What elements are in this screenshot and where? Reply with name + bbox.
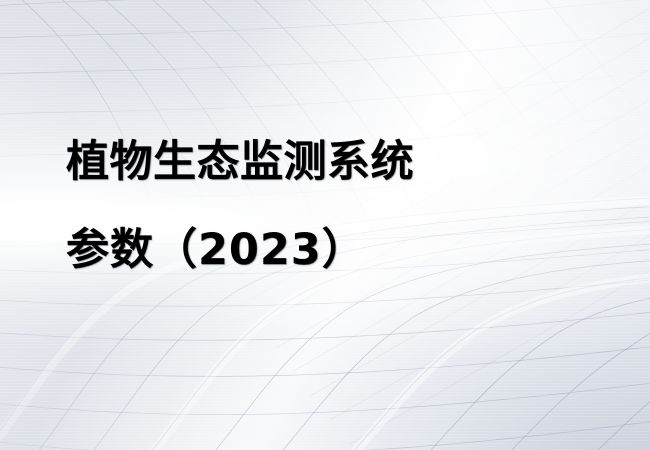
title-slide: 植物生态监测系统 参数（2023） xyxy=(0,0,650,450)
slide-title: 植物生态监测系统 参数（2023） xyxy=(66,118,606,294)
title-line-1: 植物生态监测系统 xyxy=(66,118,606,206)
title-line-2: 参数（2023） xyxy=(66,206,606,294)
